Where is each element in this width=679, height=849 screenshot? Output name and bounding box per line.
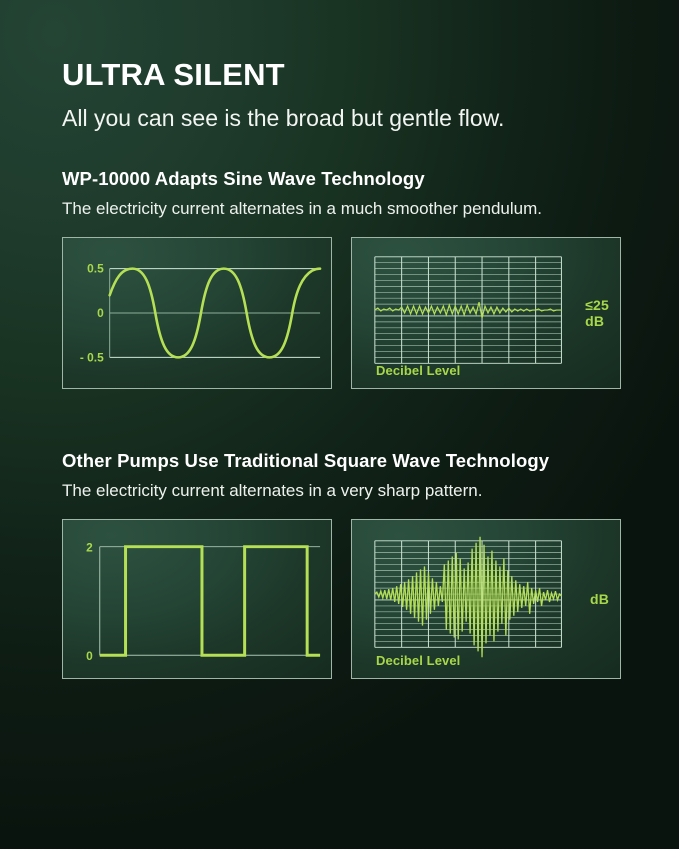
square-trace: [100, 547, 320, 656]
decibel-loud-caption: Decibel Level: [376, 653, 460, 668]
decibel-quiet-side-label: ≤25 dB: [585, 297, 609, 329]
section-heading-sine: WP-10000 Adapts Sine Wave Technology: [62, 167, 622, 191]
decibel-quiet-unit: dB: [585, 313, 609, 329]
sine-y-tick-high: 0.5: [87, 261, 104, 275]
sine-wave-chart-panel: 0.5 0 - 0.5: [62, 237, 332, 389]
section-heading-square: Other Pumps Use Traditional Square Wave …: [62, 449, 622, 473]
page-subtitle: All you can see is the broad but gentle …: [62, 92, 622, 133]
sine-wave-chart: 0.5 0 - 0.5: [66, 241, 328, 385]
section-body-sine: The electricity current alternates in a …: [62, 191, 592, 221]
decibel-loud-chart-panel: dB Decibel Level: [351, 519, 621, 679]
sine-y-tick-low: - 0.5: [80, 350, 104, 364]
grid-horizontal-lines: [375, 541, 562, 648]
decibel-quiet-caption: Decibel Level: [376, 363, 460, 378]
square-wave-chart-panel: 2 0: [62, 519, 332, 679]
decibel-quiet-chart-panel: ≤25 dB Decibel Level: [351, 237, 621, 389]
decibel-loud-side-label: dB: [590, 591, 609, 607]
infographic-page: ULTRA SILENT All you can see is the broa…: [0, 0, 679, 849]
square-y-tick-high: 2: [86, 541, 93, 555]
square-wave-chart: 2 0: [66, 523, 328, 675]
decibel-quiet-value: ≤25: [585, 297, 609, 313]
section-sine-wave: WP-10000 Adapts Sine Wave Technology The…: [62, 167, 622, 389]
square-y-tick-low: 0: [86, 649, 93, 663]
chart-row-square: 2 0: [62, 519, 622, 679]
content-container: ULTRA SILENT All you can see is the broa…: [62, 0, 622, 679]
decibel-loud-unit: dB: [590, 591, 609, 607]
chart-row-sine: 0.5 0 - 0.5: [62, 237, 622, 389]
noise-trace-high: [375, 537, 562, 657]
section-body-square: The electricity current alternates in a …: [62, 473, 592, 503]
page-title: ULTRA SILENT: [62, 0, 622, 92]
section-square-wave: Other Pumps Use Traditional Square Wave …: [62, 449, 622, 679]
sine-y-tick-mid: 0: [97, 306, 104, 320]
